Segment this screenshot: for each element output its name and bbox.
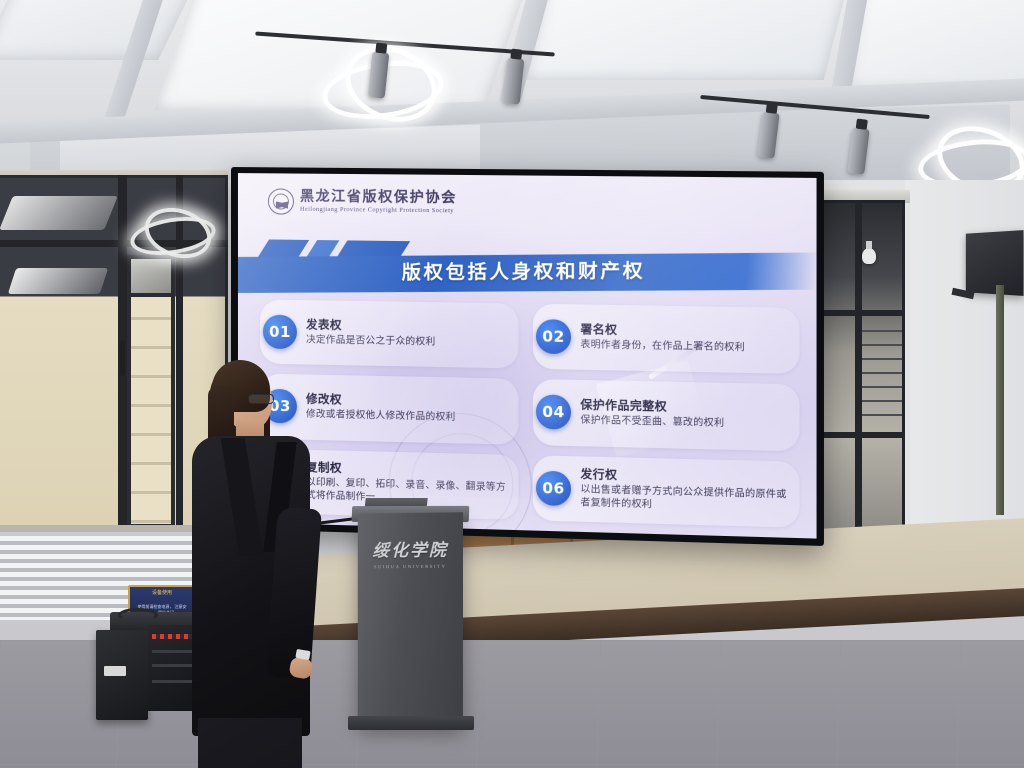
wall-speaker	[966, 230, 1024, 296]
presenter-lower-body	[198, 718, 302, 768]
card-description: 决定作品是否公之于众的权利	[306, 333, 435, 348]
window-reflection	[8, 268, 108, 294]
rights-card[interactable]: 02 署名权 表明作者身份，在作品上署名的权利	[533, 304, 800, 375]
card-description: 保护作品不受歪曲、篡改的权利	[580, 414, 724, 430]
led-display-screen[interactable]: 黑龙江省版权保护协会 Heilongjiang Province Copyrig…	[231, 167, 824, 546]
organization-name-en: Heilongjiang Province Copyright Protecti…	[300, 205, 457, 216]
card-description: 修改或者授权他人修改作品的权利	[306, 408, 456, 424]
window-security-grille	[862, 318, 902, 428]
rights-card-grid: 01 发表权 决定作品是否公之于众的权利 02 署名权 表明作者身份，在作品上署…	[260, 299, 800, 527]
pc-tower	[96, 630, 148, 720]
pc-label-sticker	[104, 666, 126, 676]
card-number-badge: 02	[536, 319, 571, 354]
coiled-cable	[118, 608, 158, 622]
lecture-hall-photo: 设备使用 使用前请检查电源， 注意安全，用后关闭 黑龙江省版权保护协会 Heil…	[0, 0, 1024, 768]
card-description: 表明作者身份，在作品上署名的权利	[580, 338, 745, 354]
window-glass-pane	[127, 255, 175, 297]
organization-name-zh: 黑龙江省版权保护协会	[300, 190, 457, 207]
card-number-badge: 06	[536, 470, 571, 506]
card-title: 保护作品完整权	[580, 399, 724, 415]
window-louver-panel	[127, 258, 175, 528]
podium-base	[348, 716, 474, 730]
presenter	[178, 358, 318, 768]
card-description: 以出售或者赠予方式向公众提供作品的原件或者复制件的权利	[580, 483, 791, 515]
ring-light-reflection	[130, 218, 216, 254]
university-name-zh: 绥化学院	[371, 541, 448, 562]
ceiling-coffer-panel	[524, 0, 856, 80]
rights-card[interactable]: 04 保护作品完整权 保护作品不受歪曲、篡改的权利	[533, 379, 800, 451]
card-number-badge: 01	[263, 315, 297, 350]
rights-card[interactable]: 06 发行权 以出售或者赠予方式向公众提供作品的原件或者复制件的权利	[533, 455, 800, 528]
window-mullion	[815, 432, 905, 438]
window-mullion	[815, 310, 905, 316]
window-mullion	[855, 200, 862, 540]
wall-pipe	[996, 285, 1004, 515]
organization-logo: 黑龙江省版权保护协会 Heilongjiang Province Copyrig…	[268, 188, 457, 216]
presenter-glasses	[248, 394, 274, 404]
card-title: 署名权	[580, 323, 745, 339]
security-camera-icon	[862, 248, 876, 264]
card-title: 发表权	[306, 318, 435, 333]
ceiling-coffer-panel	[0, 0, 202, 60]
presentation-slide: 黑龙江省版权保护协会 Heilongjiang Province Copyrig…	[238, 173, 817, 539]
card-title: 修改权	[306, 393, 456, 409]
window-handle[interactable]	[120, 340, 125, 376]
copyright-society-emblem-icon	[268, 188, 294, 214]
window-reflection	[0, 196, 118, 230]
podium-branding: 绥化学院 SUIHUA UNIVERSITY	[371, 541, 448, 570]
university-name-en: SUIHUA UNIVERSITY	[371, 564, 448, 570]
card-number-badge: 04	[536, 395, 571, 430]
ceiling-coffer-panel	[844, 0, 1024, 90]
lectern-podium: 绥化学院 SUIHUA UNIVERSITY	[358, 512, 463, 726]
slide-title: 版权包括人身权和财产权	[238, 255, 817, 286]
ceiling	[0, 0, 1024, 195]
